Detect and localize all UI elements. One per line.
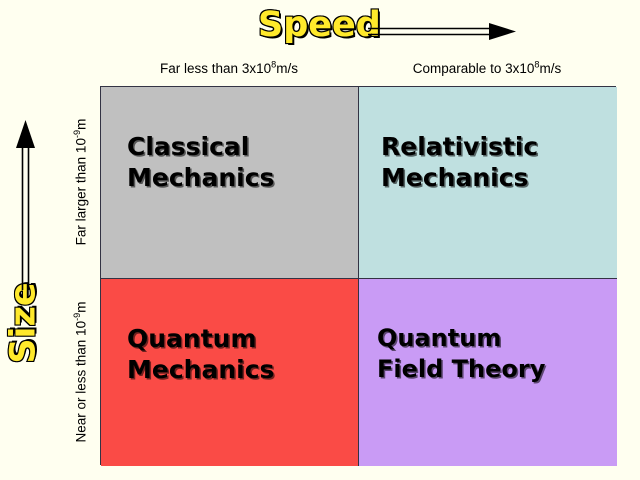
quadrant-classical-mechanics: Classical Mechanics — [101, 87, 359, 279]
quadrant-label-line1: Relativistic — [381, 131, 611, 162]
quadrant-quantum-mechanics: Quantum Mechanics — [101, 279, 359, 466]
quadrant-relativistic-mechanics-label: Relativistic Mechanics — [381, 131, 611, 193]
quadrant-classical-mechanics-label: Classical Mechanics — [127, 131, 352, 193]
column-header-slow-unit: m/s — [276, 61, 298, 76]
y-axis-title: Size — [5, 282, 43, 363]
quadrant-grid: Classical Mechanics Relativistic Mechani… — [100, 86, 616, 465]
quadrant-relativistic-mechanics: Relativistic Mechanics — [359, 87, 617, 279]
quadrant-label-line1: Quantum — [377, 323, 611, 354]
column-header-fast-unit: m/s — [539, 61, 561, 76]
quadrant-quantum-field-theory-label: Quantum Field Theory — [377, 323, 611, 385]
row-label-large-text: Far larger than 10 — [74, 138, 89, 245]
quadrant-label-line1: Classical — [127, 131, 352, 162]
row-label-small-exponent: -9 — [72, 312, 82, 320]
row-label-large-exponent: -9 — [72, 130, 82, 138]
arrow-right-icon — [368, 18, 518, 46]
row-label-small: Near or less than 10-9m — [74, 301, 89, 442]
quadrant-quantum-mechanics-label: Quantum Mechanics — [127, 323, 352, 385]
row-label-large-unit: m — [74, 119, 89, 130]
row-label-small-text: Near or less than 10 — [74, 320, 89, 442]
row-label-large: Far larger than 10-9m — [74, 119, 89, 246]
arrow-up-icon — [12, 118, 40, 290]
quadrant-quantum-field-theory: Quantum Field Theory — [359, 279, 617, 466]
column-header-slow-text: Far less than 3x10 — [160, 61, 271, 76]
diagram-canvas: Speed Size Far less than 3x108m/s Compar… — [0, 0, 640, 480]
row-label-small-wrapper: Near or less than 10-9m — [70, 278, 92, 465]
quadrant-label-line2: Mechanics — [127, 354, 352, 385]
column-header-fast-text: Comparable to 3x10 — [413, 61, 535, 76]
column-header-slow: Far less than 3x108m/s — [100, 61, 358, 76]
row-label-large-wrapper: Far larger than 10-9m — [70, 86, 92, 278]
quadrant-label-line2: Mechanics — [381, 162, 611, 193]
column-header-fast: Comparable to 3x108m/s — [358, 61, 616, 76]
quadrant-label-line1: Quantum — [127, 323, 352, 354]
quadrant-label-line2: Mechanics — [127, 162, 352, 193]
x-axis-title: Speed — [258, 6, 381, 44]
row-label-small-unit: m — [74, 301, 89, 312]
quadrant-label-line2: Field Theory — [377, 354, 611, 385]
